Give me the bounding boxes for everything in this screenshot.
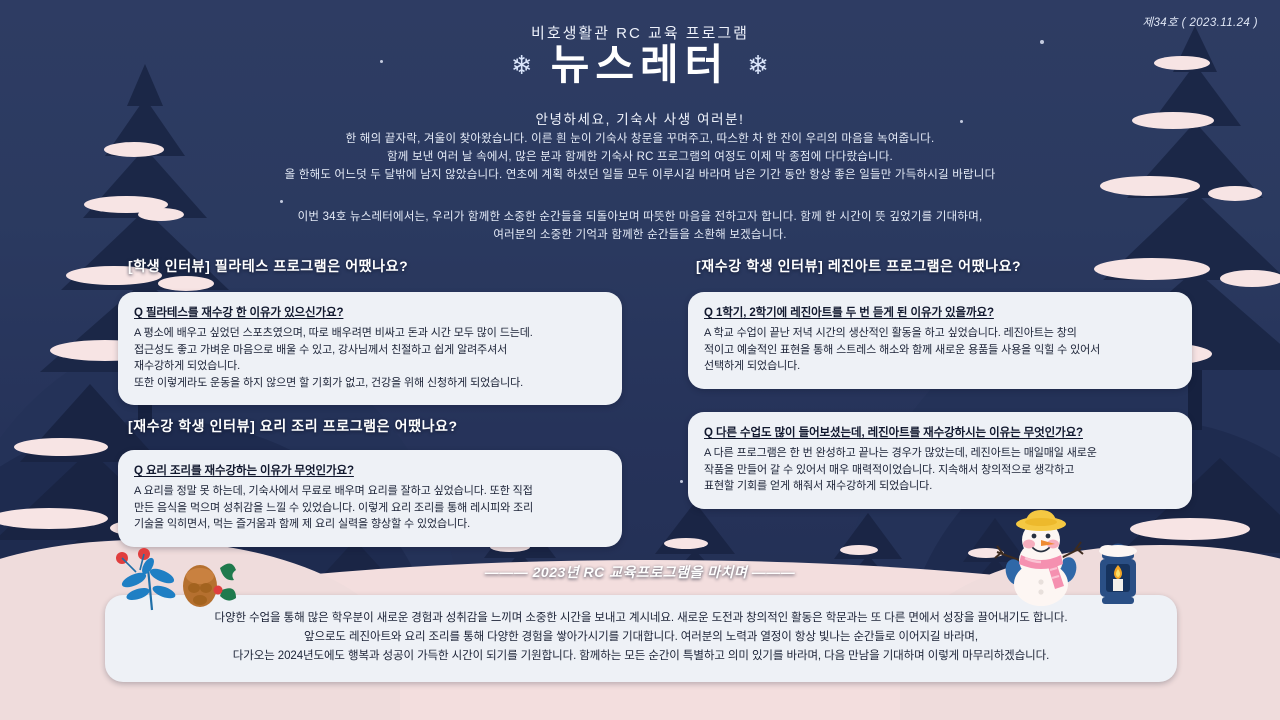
section-heading-cooking: [재수강 학생 인터뷰] 요리 조리 프로그램은 어땠나요? (128, 416, 458, 436)
interview-question: Q 요리 조리를 재수강하는 이유가 무엇인가요? (134, 462, 606, 478)
interview-card-resin-art-1: Q 1학기, 2학기에 레진아트를 두 번 듣게 된 이유가 있을까요? A 학… (688, 292, 1192, 389)
interview-card-pilates: Q 필라테스를 재수강 한 이유가 있으신가요? A 평소에 배우고 싶었던 스… (118, 292, 622, 405)
interview-answer: A 평소에 배우고 싶었던 스포츠였으며, 따로 배우려면 비싸고 돈과 시간 … (134, 325, 606, 391)
closing-line-1: 다양한 수업을 통해 많은 학우분이 새로운 경험과 성취감을 느끼며 소중한 … (127, 609, 1155, 628)
intro-line-5: 여러분의 소중한 기억과 함께한 순간들을 소환해 보겠습니다. (120, 226, 1160, 244)
closing-line-2: 앞으로도 레진아트와 요리 조리를 통해 다양한 경험을 쌓아가시기를 기대합니… (127, 628, 1155, 647)
interview-question: Q 필라테스를 재수강 한 이유가 있으신가요? (134, 304, 606, 320)
intro-line-1: 한 해의 끝자락, 겨울이 찾아왔습니다. 이른 흰 눈이 기숙사 창문을 꾸며… (120, 130, 1160, 148)
snowflake-icon: ❄ (511, 52, 533, 78)
interview-card-cooking: Q 요리 조리를 재수강하는 이유가 무엇인가요? A 요리를 정말 못 하는데… (118, 450, 622, 547)
intro-block: 한 해의 끝자락, 겨울이 찾아왔습니다. 이른 흰 눈이 기숙사 창문을 꾸며… (120, 130, 1160, 244)
section-heading-resin-art: [재수강 학생 인터뷰] 레진아트 프로그램은 어땠나요? (696, 256, 1021, 276)
closing-title: ——— 2023년 RC 교육프로그램을 마치며 ——— (0, 562, 1280, 582)
newsletter-title-row: ❄ 뉴스레터 ❄ (0, 44, 1280, 86)
intro-line-3: 올 한해도 어느덧 두 달밖에 남지 않았습니다. 연초에 계획 하셨던 일들 … (120, 166, 1160, 184)
intro-line-4: 이번 34호 뉴스레터에서는, 우리가 함께한 소중한 순간들을 되돌아보며 따… (120, 208, 1160, 226)
interview-answer: A 학교 수업이 끝난 저녁 시간의 생산적인 활동을 하고 싶었습니다. 레진… (704, 325, 1176, 375)
section-heading-pilates: [학생 인터뷰] 필라테스 프로그램은 어땠나요? (128, 256, 408, 276)
intro-line-2: 함께 보낸 여러 날 속에서, 많은 분과 함께한 기숙사 RC 프로그램의 여… (120, 148, 1160, 166)
page-title: 뉴스레터 (551, 44, 730, 86)
interview-question: Q 다른 수업도 많이 들어보셨는데, 레진아트를 재수강하시는 이유는 무엇인… (704, 424, 1176, 440)
snowflake-icon: ❄ (747, 52, 769, 78)
interview-question: Q 1학기, 2학기에 레진아트를 두 번 듣게 된 이유가 있을까요? (704, 304, 1176, 320)
newsletter-kicker: 비호생활관 RC 교육 프로그램 (0, 22, 1280, 43)
newsletter-page: 제34호 ( 2023.11.24 ) 비호생활관 RC 교육 프로그램 ❄ 뉴… (0, 0, 1280, 720)
interview-card-resin-art-2: Q 다른 수업도 많이 들어보셨는데, 레진아트를 재수강하시는 이유는 무엇인… (688, 412, 1192, 509)
interview-answer: A 다른 프로그램은 한 번 완성하고 끝나는 경우가 많았는데, 레진아트는 … (704, 445, 1176, 495)
greeting-line: 안녕하세요, 기숙사 사생 여러분! (0, 108, 1280, 128)
closing-line-3: 다가오는 2024년도에도 행복과 성공이 가득한 시간이 되기를 기원합니다.… (127, 647, 1155, 666)
closing-message-card: 다양한 수업을 통해 많은 학우분이 새로운 경험과 성취감을 느끼며 소중한 … (105, 595, 1177, 682)
interview-answer: A 요리를 정말 못 하는데, 기숙사에서 무료로 배우며 요리를 잘하고 싶었… (134, 483, 606, 533)
